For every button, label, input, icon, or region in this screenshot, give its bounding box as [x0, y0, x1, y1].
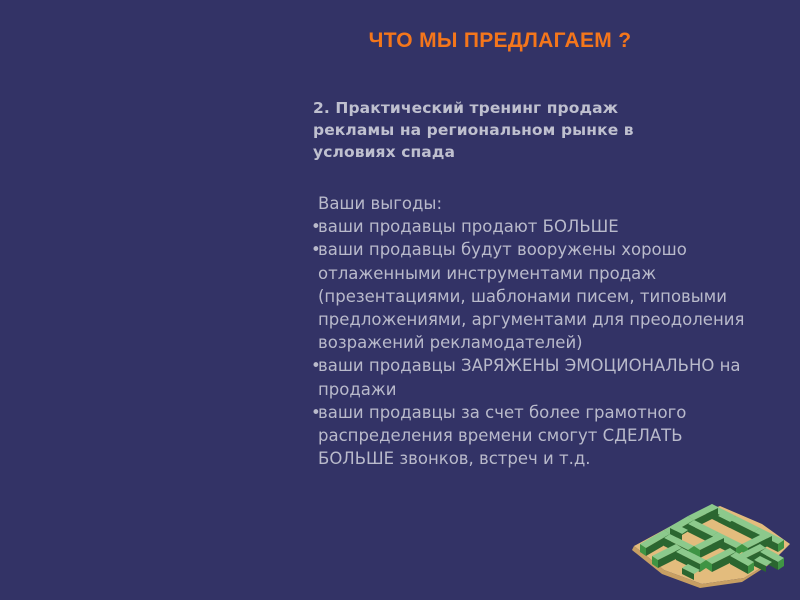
maze-icon [624, 498, 800, 590]
subtitle-line: рекламы на региональном рынке в [313, 119, 691, 141]
page-title: ЧТО МЫ ПРЕДЛАГАЕМ ? [180, 29, 800, 53]
list-item-line: (презентациями, шаблонами писем, типовым… [318, 285, 781, 308]
slide-canvas: ЧТО МЫ ПРЕДЛАГАЕМ ? 2. Практический трен… [0, 0, 800, 600]
list-item: • ваши продавцы будут вооружены хорошо о… [311, 238, 781, 354]
list-item-line: ваши продавцы за счет более грамотного [318, 401, 781, 424]
bullet-icon: • [311, 215, 321, 238]
list-item-line: отлаженными инструментами продаж [318, 262, 781, 285]
benefits-list: Ваши выгоды: • ваши продавцы продают БОЛ… [311, 192, 781, 470]
list-item: • ваши продавцы продают БОЛЬШЕ [311, 215, 781, 238]
bullet-icon: • [311, 354, 321, 377]
slide-subtitle: 2. Практический тренинг продаж рекламы н… [313, 97, 691, 163]
subtitle-line: 2. Практический тренинг продаж [313, 97, 691, 119]
list-item-line: распределения времени смогут СДЕЛАТЬ [318, 424, 781, 447]
list-item-line: БОЛЬШЕ звонков, встреч и т.д. [318, 447, 781, 470]
list-item-line: ваши продавцы продают БОЛЬШЕ [318, 215, 781, 238]
list-item-line: продажи [318, 378, 781, 401]
list-item-line: ваши продавцы будут вооружены хорошо [318, 238, 781, 261]
list-item-line: ваши продавцы ЗАРЯЖЕНЫ ЭМОЦИОНАЛЬНО на [318, 354, 781, 377]
bullet-icon: • [311, 238, 321, 261]
list-item: • ваши продавцы ЗАРЯЖЕНЫ ЭМОЦИОНАЛЬНО на… [311, 354, 781, 400]
subtitle-line: условиях спада [313, 141, 691, 163]
maze-illustration [624, 498, 800, 590]
bullet-icon: • [311, 401, 321, 424]
list-item-line: предложениями, аргументами для преодолен… [318, 308, 781, 331]
list-item: • ваши продавцы за счет более грамотного… [311, 401, 781, 471]
list-item-line: возражений рекламодателей) [318, 331, 781, 354]
benefits-lead-label: Ваши выгоды: [311, 192, 781, 215]
